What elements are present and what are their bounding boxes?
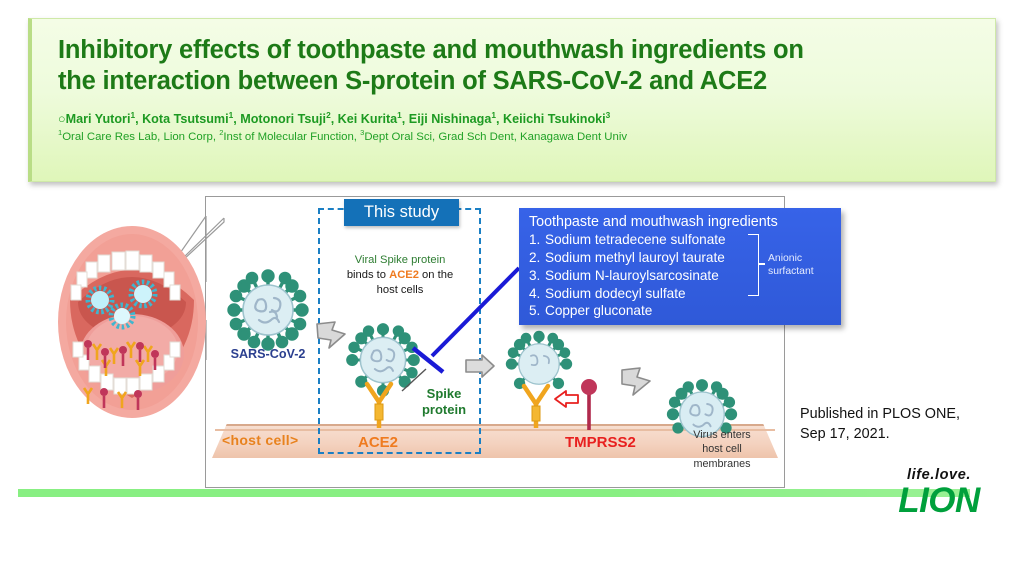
ingredient-number: 4. (529, 285, 545, 303)
host-cell-label: <host cell> (222, 432, 298, 448)
accent-bar (18, 489, 970, 497)
virus-entry-line3: membranes (693, 458, 750, 470)
ingredient-name: Copper gluconate (545, 303, 652, 318)
sars-cov-2-label: SARS-CoV-2 (222, 347, 314, 361)
binding-caption-line2c: on the (419, 269, 453, 281)
anionic-surfactant-label: Anionic surfactant (768, 252, 834, 278)
virus-entry-line2: host cell (702, 443, 742, 455)
anionic-surfactant-bracket-nub (758, 263, 765, 265)
ingredient-name: Sodium tetradecene sulfonate (545, 232, 726, 247)
oral-cavity-illustration (52, 222, 212, 422)
spike-protein-label-line1: Spike (427, 386, 462, 401)
binding-caption-ace2: ACE2 (389, 269, 419, 281)
anionic-label-line2: surfactant (768, 266, 814, 277)
ingredient-number: 2. (529, 249, 545, 267)
ingredient-number: 1. (529, 231, 545, 249)
lion-logo-name: LION (880, 484, 998, 518)
ingredient-name: Sodium methyl lauroyl taurate (545, 250, 725, 265)
anionic-surfactant-bracket (748, 234, 759, 296)
binding-caption-line2a: binds to (347, 269, 389, 281)
ingredient-number: 5. (529, 302, 545, 320)
ingredient-name: Sodium dodecyl sulfate (545, 286, 686, 301)
publication-note-line2: Sep 17, 2021. (800, 426, 890, 442)
process-arrow-2-icon (462, 352, 498, 382)
lion-logo: life.love. LION (880, 468, 998, 517)
ace2-receptor-right (519, 376, 553, 430)
ace2-receptor-center (362, 374, 396, 430)
spike-protein-label-line2: protein (422, 402, 466, 417)
virus-entry-caption: Virus enters host cell membranes (676, 428, 768, 471)
ingredient-item: 4.Sodium dodecyl sulfate (529, 285, 833, 303)
ingredient-number: 3. (529, 267, 545, 285)
anionic-label-line1: Anionic (768, 253, 802, 264)
ace2-label: ACE2 (358, 434, 398, 451)
binding-caption: Viral Spike protein binds to ACE2 on the… (330, 253, 470, 298)
publication-note-line1: Published in PLOS ONE, (800, 406, 960, 422)
ingredients-title: Toothpaste and mouthwash ingredients (529, 213, 833, 231)
ingredient-item: 5.Copper gluconate (529, 302, 833, 320)
this-study-banner: This study (344, 199, 459, 226)
ingredient-name: Sodium N-lauroylsarcosinate (545, 268, 719, 283)
publication-note: Published in PLOS ONE, Sep 17, 2021. (800, 404, 1010, 445)
virus-entry-line1: Virus enters (693, 429, 750, 441)
tmprss2-label: TMPRSS2 (565, 434, 636, 451)
process-arrow-1-icon (313, 318, 349, 352)
ingredient-item: 1.Sodium tetradecene sulfonate (529, 231, 833, 249)
tmprss2-receptor (578, 378, 600, 432)
spike-protein-label: Spike protein (413, 386, 475, 417)
binding-caption-line1: Viral Spike protein (355, 254, 446, 266)
process-arrow-3-icon (616, 364, 654, 398)
virus-particle-free (226, 268, 310, 352)
binding-caption-line3: host cells (377, 284, 424, 296)
